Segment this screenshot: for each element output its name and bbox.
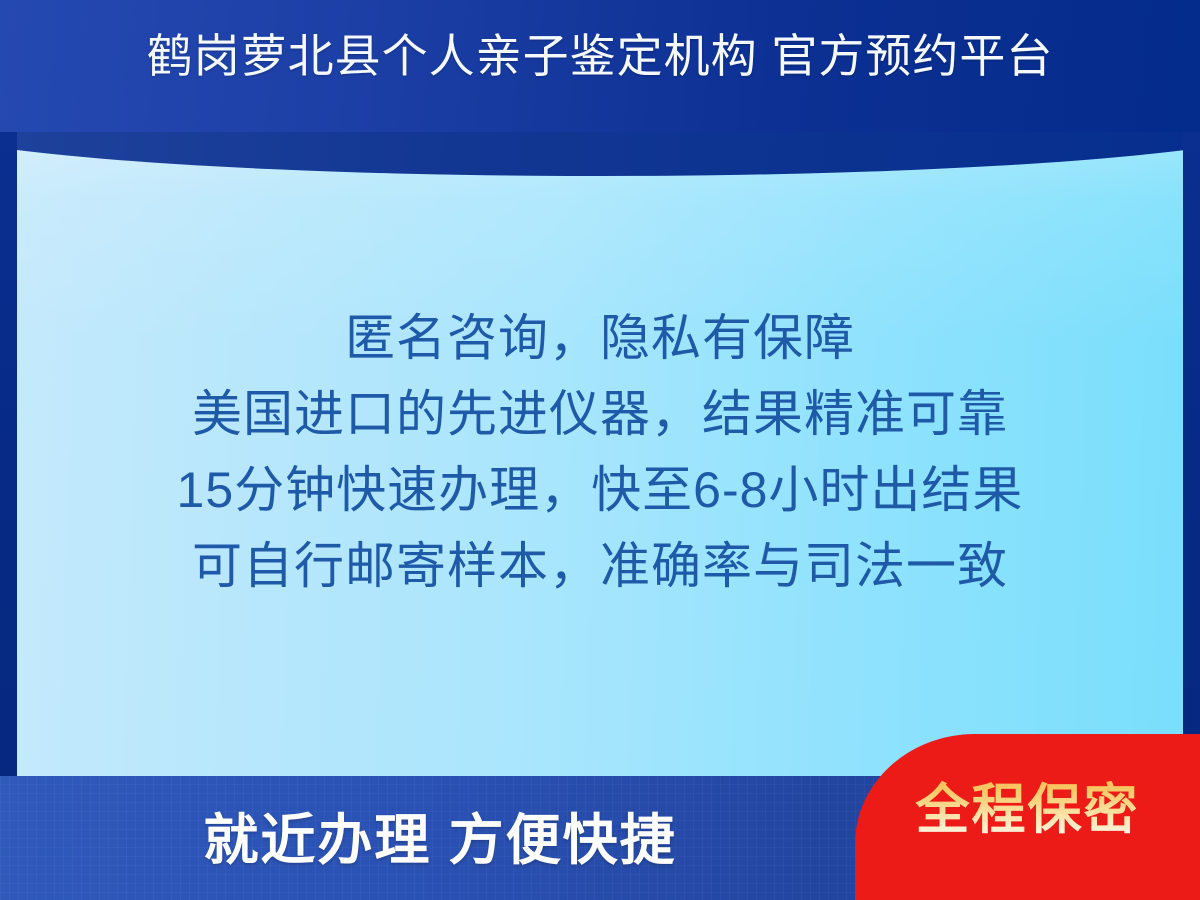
selling-point-2: 美国进口的先进仪器，结果精准可靠 — [0, 376, 1200, 452]
promo-poster: 鹤岗萝北县个人亲子鉴定机构 官方预约平台 匿名咨询，隐私有保障 美国进口的先进仪… — [0, 0, 1200, 900]
page-title: 鹤岗萝北县个人亲子鉴定机构 官方预约平台 — [0, 26, 1200, 86]
header-bar: 鹤岗萝北县个人亲子鉴定机构 官方预约平台 — [0, 0, 1200, 132]
selling-point-1: 匿名咨询，隐私有保障 — [0, 300, 1200, 376]
confidentiality-badge: 全程保密 — [855, 734, 1200, 900]
footer-slogan: 就近办理 方便快捷 — [60, 786, 820, 894]
selling-point-4: 可自行邮寄样本，准确率与司法一致 — [0, 528, 1200, 604]
confidentiality-badge-label: 全程保密 — [855, 768, 1200, 852]
selling-point-3: 15分钟快速办理，快至6-8小时出结果 — [0, 452, 1200, 528]
selling-points-list: 匿名咨询，隐私有保障 美国进口的先进仪器，结果精准可靠 15分钟快速办理，快至6… — [0, 300, 1200, 604]
